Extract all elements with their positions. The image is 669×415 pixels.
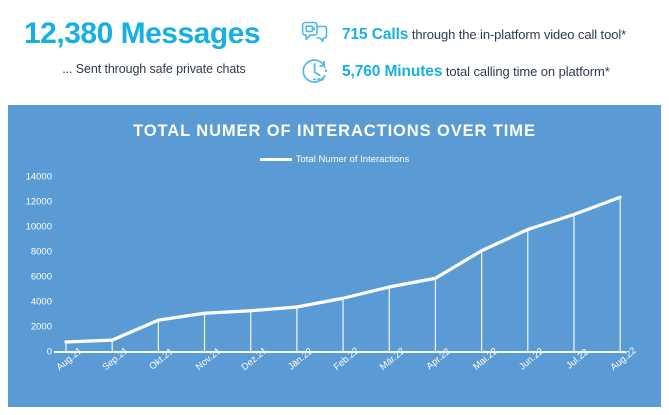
stat-minutes: 5,760 Minutes total calling time on plat… [298,55,610,89]
messages-value: 12,380 Messages [24,16,284,52]
chart-title: TOTAL NUMER OF INTERACTIONS OVER TIME [8,122,661,141]
x-axis-labels: Aug.21Sep.21Okt.21Nov.21Dez.21Jän.22Feb.… [56,355,624,405]
legend-label: Total Numer of Interactions [296,154,410,165]
minutes-text: 5,760 Minutes total calling time on plat… [342,63,610,81]
y-tick-label: 14000 [8,172,52,183]
chart-panel: TOTAL NUMER OF INTERACTIONS OVER TIME To… [8,105,661,407]
legend-swatch [260,158,292,161]
y-tick-label: 10000 [8,222,52,233]
minutes-rest: total calling time on platform* [442,64,609,79]
plot-area [56,177,624,352]
infographic-root: 12,380 Messages ... Sent through safe pr… [0,0,669,415]
y-tick-label: 2000 [8,322,52,333]
chart-legend: Total Numer of Interactions [8,154,661,165]
line-chart-svg [56,177,624,352]
calls-highlight: 715 Calls [342,26,408,43]
y-tick-label: 6000 [8,272,52,283]
y-tick-label: 8000 [8,247,52,258]
stat-calls: 715 Calls through the in-platform video … [298,18,626,52]
calls-rest: through the in-platform video call tool* [408,27,626,42]
stat-messages: 12,380 Messages ... Sent through safe pr… [24,16,284,76]
y-tick-label: 0 [8,347,52,358]
y-axis-labels: 02000400060008000100001200014000 [8,177,52,352]
clock-icon [298,55,332,89]
video-chat-icon [298,18,332,52]
y-tick-label: 4000 [8,297,52,308]
messages-subtitle: ... Sent through safe private chats [24,62,284,76]
header-stats: 12,380 Messages ... Sent through safe pr… [0,0,669,100]
minutes-highlight: 5,760 Minutes [342,63,442,80]
calls-text: 715 Calls through the in-platform video … [342,26,626,44]
y-tick-label: 12000 [8,197,52,208]
